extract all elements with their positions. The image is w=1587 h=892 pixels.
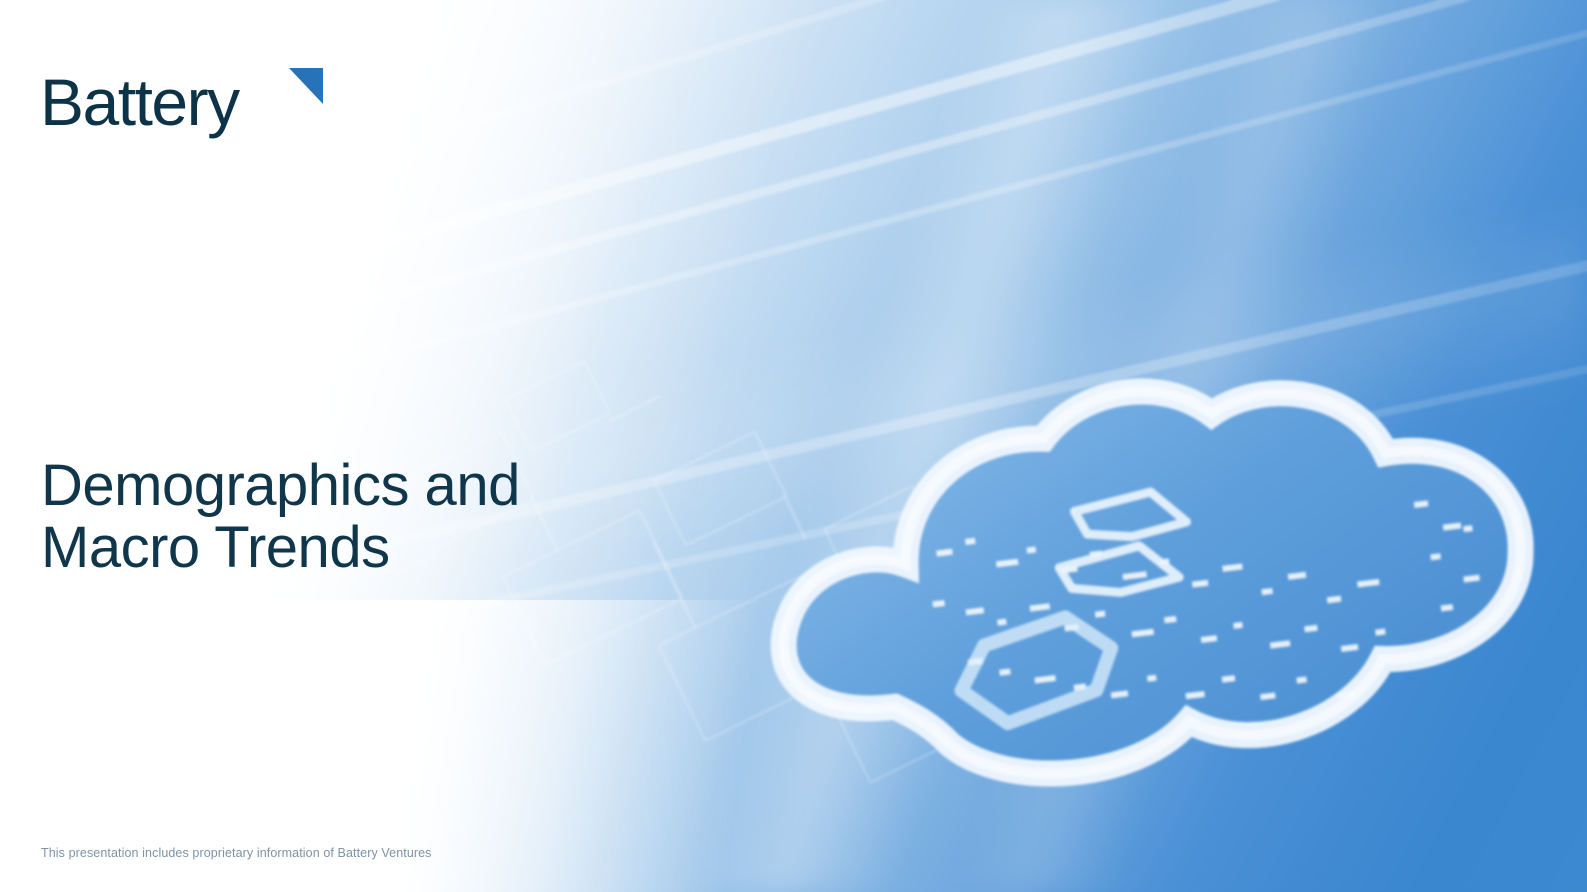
slide-title: Demographics and Macro Trends bbox=[41, 455, 681, 579]
proprietary-notice: This presentation includes proprietary i… bbox=[41, 845, 432, 861]
battery-logo[interactable]: Battery bbox=[40, 62, 239, 142]
title-slide: Battery Demographics and Macro Trends Th… bbox=[0, 0, 1587, 892]
battery-wordmark: Battery bbox=[40, 62, 239, 142]
cloud-icon bbox=[709, 326, 1587, 892]
battery-flag-triangle-icon bbox=[289, 68, 323, 104]
